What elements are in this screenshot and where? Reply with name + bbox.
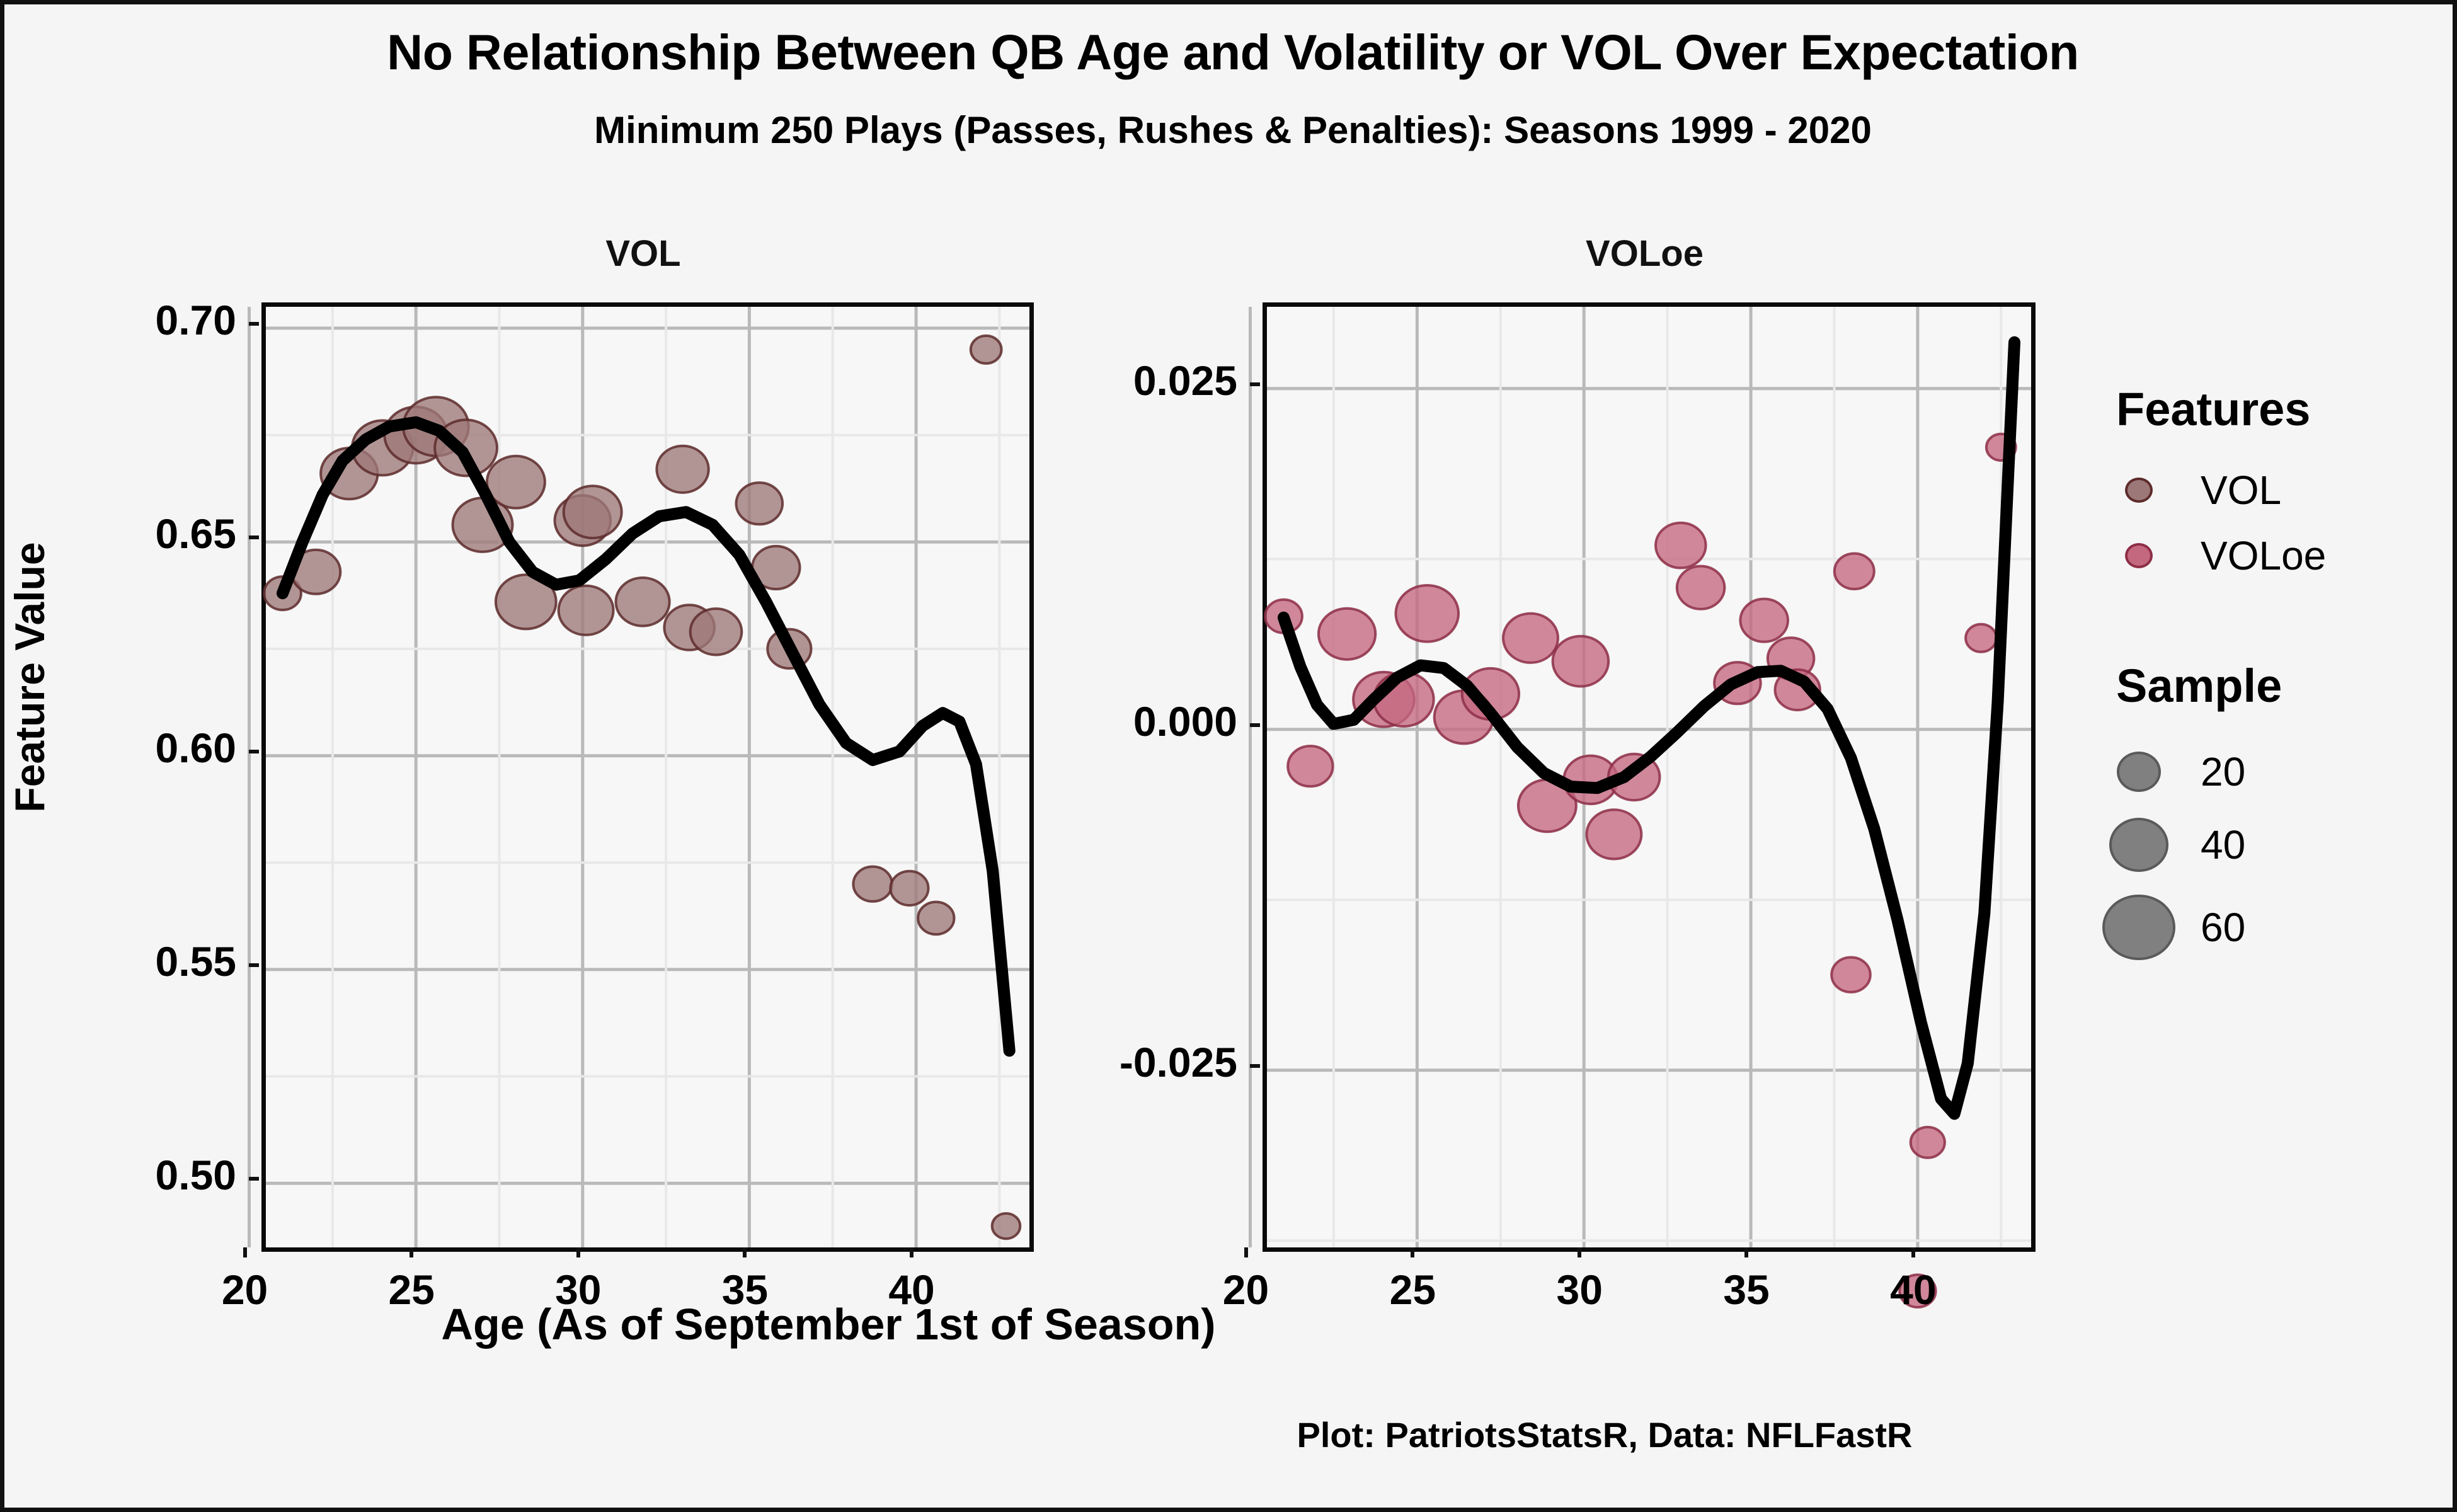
y-tick-mark bbox=[249, 535, 259, 539]
legend-size-label: 60 bbox=[2201, 904, 2245, 951]
legend-feature-item[interactable]: VOLoe bbox=[2077, 523, 2455, 588]
data-point bbox=[690, 609, 742, 655]
legend-size-swatch bbox=[2077, 818, 2201, 872]
data-point bbox=[1586, 810, 1641, 859]
plot-panel-vol bbox=[261, 302, 1034, 1252]
legend: Features VOLVOLoe Sample 204060 bbox=[2077, 382, 2455, 971]
plot-caption: Plot: PatriotsStatsR, Data: NFLFastR bbox=[1038, 1414, 2172, 1455]
data-point bbox=[656, 446, 708, 493]
y-tick-label: 0.55 bbox=[0, 937, 236, 985]
y-tick-mark bbox=[249, 1177, 259, 1181]
y-tick-mark bbox=[249, 750, 259, 753]
x-tick-mark bbox=[1578, 1247, 1581, 1257]
x-tick-mark bbox=[1911, 1247, 1915, 1257]
legend-size-label: 40 bbox=[2201, 822, 2245, 868]
data-point bbox=[1288, 746, 1332, 786]
chart-title: No Relationship Between QB Age and Volat… bbox=[4, 23, 2457, 81]
legend-features-title: Features bbox=[2116, 382, 2455, 436]
smoothing-curve bbox=[283, 422, 1010, 1051]
x-tick-mark bbox=[1244, 1247, 1248, 1257]
data-point bbox=[853, 867, 892, 902]
y-tick-label: 0.025 bbox=[985, 357, 1237, 404]
data-point bbox=[1396, 585, 1459, 642]
y-tick-label: 0.70 bbox=[0, 296, 236, 344]
x-tick-mark bbox=[1411, 1247, 1414, 1257]
data-point bbox=[992, 1213, 1021, 1239]
y-tick-label: -0.025 bbox=[985, 1038, 1237, 1086]
data-point bbox=[918, 902, 954, 935]
panel-title-voloe: VOLoe bbox=[1263, 232, 2027, 275]
y-tick-mark bbox=[249, 322, 259, 326]
legend-size-label: 20 bbox=[2201, 748, 2245, 795]
y-tick-label: 0.50 bbox=[0, 1151, 236, 1199]
legend-size-item[interactable]: 40 bbox=[2077, 806, 2455, 884]
legend-feature-label: VOL bbox=[2201, 467, 2281, 513]
y-tick-mark bbox=[249, 963, 259, 967]
legend-size-swatch bbox=[2077, 752, 2201, 791]
data-point bbox=[890, 871, 928, 905]
data-point bbox=[1740, 599, 1788, 642]
data-point bbox=[1677, 566, 1725, 609]
x-tick-label: 30 bbox=[1504, 1266, 1655, 1314]
legend-features-list: VOLVOLoe bbox=[2077, 457, 2455, 588]
legend-feature-swatch bbox=[2077, 543, 2201, 568]
legend-size-swatch bbox=[2077, 895, 2201, 961]
panel-title-vol: VOL bbox=[261, 232, 1025, 275]
legend-sample-list: 204060 bbox=[2077, 738, 2455, 971]
y-tick-label: 0.000 bbox=[985, 697, 1237, 745]
x-tick-mark bbox=[1744, 1247, 1748, 1257]
y-tick-mark bbox=[1250, 382, 1260, 386]
data-point bbox=[559, 586, 614, 635]
plot-canvas-voloe bbox=[1267, 307, 2031, 1247]
data-point bbox=[736, 483, 783, 524]
data-point bbox=[564, 486, 622, 538]
x-tick-mark bbox=[243, 1247, 247, 1257]
y-axis-label: Feature Value bbox=[6, 457, 54, 898]
legend-size-item[interactable]: 20 bbox=[2077, 738, 2455, 806]
x-tick-label: 40 bbox=[1838, 1266, 1989, 1314]
legend-feature-label: VOLoe bbox=[2201, 532, 2326, 579]
x-tick-label: 35 bbox=[1671, 1266, 1822, 1314]
x-axis-label: Age (As of September 1st of Season) bbox=[261, 1299, 1395, 1349]
legend-sample-title: Sample bbox=[2116, 659, 2455, 713]
plot-panel-voloe bbox=[1263, 302, 2036, 1252]
legend-feature-item[interactable]: VOL bbox=[2077, 457, 2455, 523]
data-point bbox=[616, 578, 670, 626]
legend-size-item[interactable]: 60 bbox=[2077, 884, 2455, 971]
data-point bbox=[1503, 614, 1558, 663]
x-tick-mark bbox=[576, 1247, 580, 1257]
data-point bbox=[1966, 624, 1996, 652]
data-point bbox=[1319, 609, 1375, 660]
x-tick-mark bbox=[743, 1247, 747, 1257]
legend-feature-swatch bbox=[2077, 478, 2201, 503]
y-tick-mark bbox=[1250, 1064, 1260, 1068]
data-point bbox=[1835, 554, 1874, 590]
x-tick-mark bbox=[409, 1247, 413, 1257]
data-point bbox=[1831, 958, 1870, 992]
y-tick-mark bbox=[1250, 723, 1260, 727]
plot-canvas-vol bbox=[266, 307, 1029, 1247]
chart-subtitle: Minimum 250 Plays (Passes, Rushes & Pena… bbox=[4, 108, 2457, 152]
x-tick-mark bbox=[910, 1247, 913, 1257]
data-point bbox=[487, 456, 545, 508]
data-point bbox=[1911, 1127, 1945, 1158]
chart-root: No Relationship Between QB Age and Volat… bbox=[0, 0, 2457, 1512]
data-point bbox=[1553, 636, 1609, 687]
data-point bbox=[1656, 523, 1706, 568]
